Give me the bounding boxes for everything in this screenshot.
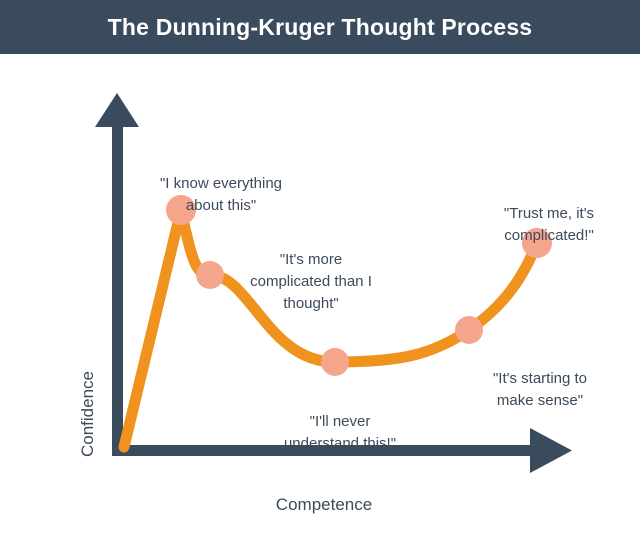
x-axis-arrowhead: [530, 428, 572, 473]
page-title: The Dunning-Kruger Thought Process: [108, 14, 533, 41]
title-bar: The Dunning-Kruger Thought Process: [0, 0, 640, 54]
chart-canvas: "I know everything about this" "It's mor…: [0, 54, 640, 500]
curve-point-decline[interactable]: [196, 261, 224, 289]
annotation-plateau: "Trust me, it's complicated!": [470, 203, 628, 247]
chart-page: The Dunning-Kruger Thought Process "I kn…: [0, 0, 640, 500]
annotation-enlightenment: "It's starting to make sense": [462, 368, 618, 412]
annotation-valley: "I'll never understand this!": [262, 411, 418, 455]
curve-point-enlightenment[interactable]: [455, 316, 483, 344]
x-axis-label: Competence: [224, 495, 424, 515]
y-axis-line: [112, 127, 123, 452]
curve-point-valley[interactable]: [321, 348, 349, 376]
y-axis-arrowhead: [95, 93, 139, 127]
annotation-decline: "It's more complicated than I thought": [228, 249, 394, 314]
annotation-peak: "I know everything about this": [128, 173, 314, 217]
